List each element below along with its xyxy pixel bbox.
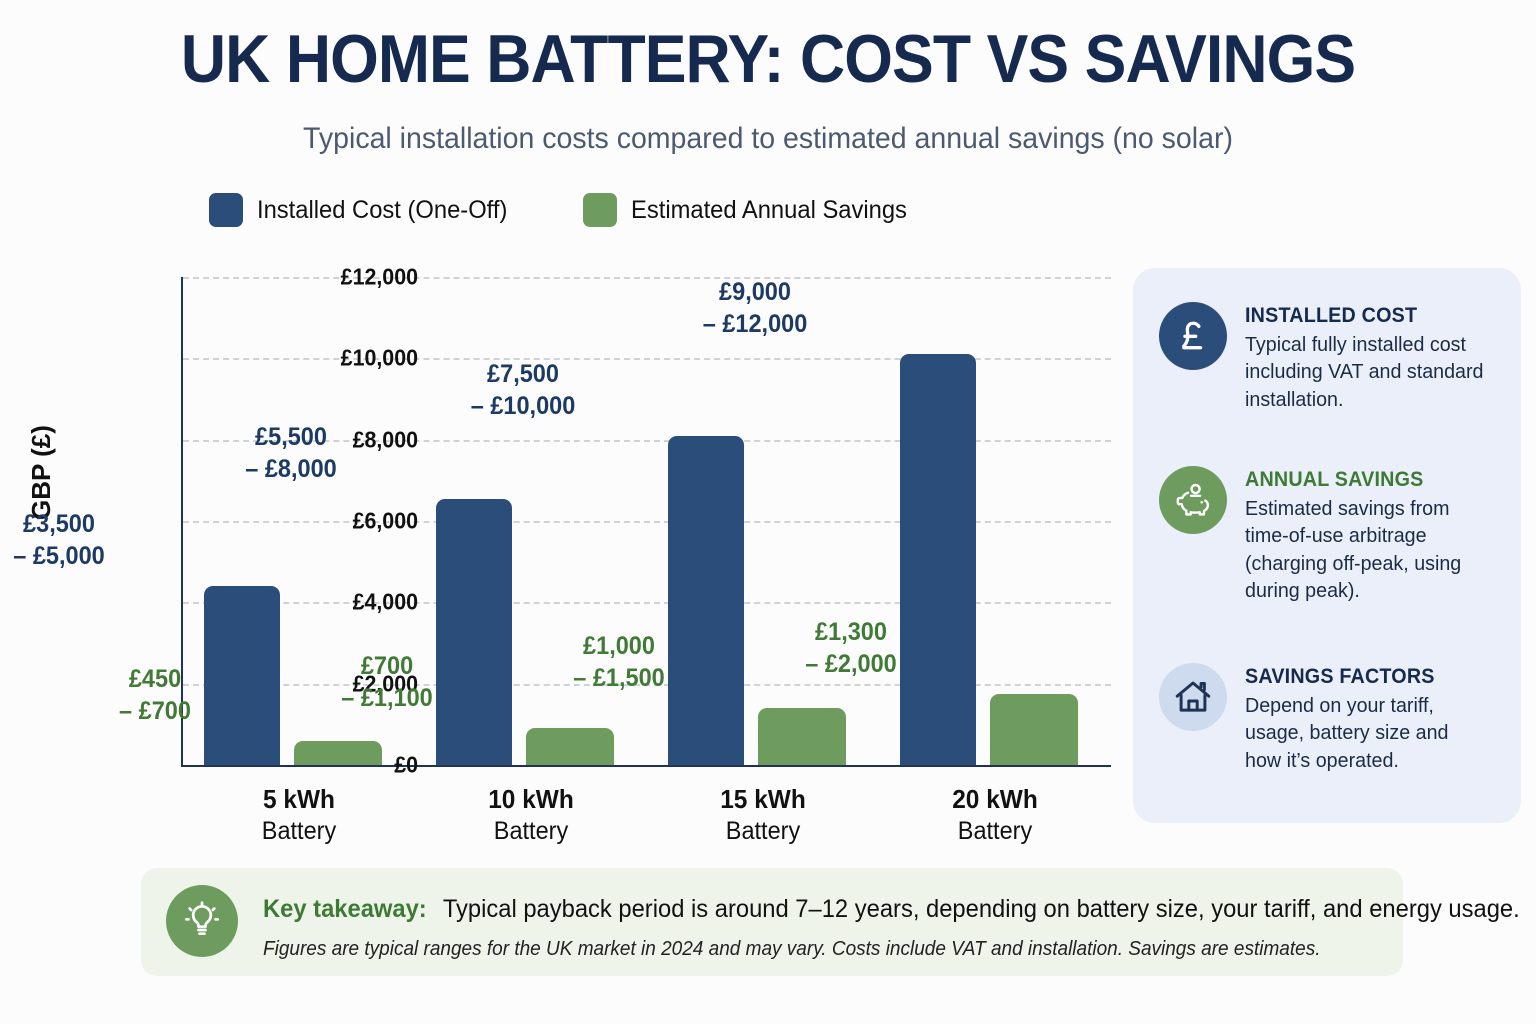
panel-item-heading: INSTALLED COST — [1245, 304, 1482, 328]
x-axis-category-label: 15 kWhBattery — [647, 784, 879, 846]
panel-item-body: ANNUAL SAVINGS Estimated savings from ti… — [1245, 466, 1497, 604]
pound-sign-icon — [1159, 302, 1227, 370]
bar-value-label-savings: £450– £700 — [70, 663, 239, 727]
bar-label-line1: £450 — [129, 665, 181, 693]
bar-label-line2: – £12,000 — [703, 310, 808, 338]
panel-item-text: Depend on your tariff, usage, battery si… — [1245, 692, 1487, 774]
panel-item-body: INSTALLED COST Typical fully installed c… — [1245, 302, 1497, 413]
bar-label-line2: – £8,000 — [245, 455, 336, 483]
bar-label-line2: – £1,500 — [573, 664, 664, 692]
bar-installed-cost[interactable] — [668, 436, 744, 765]
bar-label-line1: £7,500 — [487, 360, 559, 388]
bar-label-line2: – £2,000 — [805, 650, 896, 678]
x-axis-category-size: 15 kWh — [654, 784, 872, 815]
key-takeaway-banner: Key takeaway: Typical payback period is … — [141, 868, 1403, 976]
bar-label-line2: – £10,000 — [471, 392, 576, 420]
page-title: UK HOME BATTERY: COST VS SAVINGS — [61, 24, 1474, 95]
x-axis-category-unit: Battery — [886, 817, 1104, 846]
bar-label-line1: £5,500 — [255, 423, 327, 451]
x-axis-category-unit: Battery — [190, 817, 408, 846]
y-axis-title: GBP (£) — [26, 425, 57, 520]
bar-value-label-cost: £3,500– £5,000 — [0, 508, 144, 572]
panel-item-annual-savings[interactable]: ANNUAL SAVINGS Estimated savings from ti… — [1159, 466, 1497, 604]
bar-label-line1: £9,000 — [719, 278, 791, 306]
bar-label-line1: £1,000 — [583, 632, 655, 660]
bar-label-line1: £700 — [361, 652, 413, 680]
infographic-root: UK HOME BATTERY: COST VS SAVINGS Typical… — [0, 0, 1536, 1024]
x-axis-category-label: 10 kWhBattery — [415, 784, 647, 846]
bar-label-line1: £1,300 — [815, 618, 887, 646]
key-takeaway-label: Key takeaway: — [263, 895, 427, 923]
bar-annual-savings[interactable] — [526, 728, 614, 765]
legend-item-annual-savings[interactable]: Estimated Annual Savings — [583, 193, 921, 227]
bar-annual-savings[interactable] — [990, 694, 1078, 765]
y-axis-tick-label: £4,000 — [269, 589, 418, 616]
bar-label-line2: – £5,000 — [13, 542, 104, 570]
x-axis-category-size: 5 kWh — [190, 784, 408, 815]
bar-annual-savings[interactable] — [758, 708, 846, 765]
x-axis-category-label: 5 kWhBattery — [183, 784, 415, 846]
panel-item-savings-factors[interactable]: SAVINGS FACTORS Depend on your tariff, u… — [1159, 663, 1497, 774]
panel-item-heading: SAVINGS FACTORS — [1245, 665, 1482, 689]
panel-item-text: Typical fully installed cost including V… — [1245, 331, 1487, 413]
chart-legend: Installed Cost (One-Off) Estimated Annua… — [0, 193, 1130, 227]
x-axis-category-label: 20 kWhBattery — [879, 784, 1111, 846]
panel-item-heading: ANNUAL SAVINGS — [1245, 468, 1482, 492]
info-panel: INSTALLED COST Typical fully installed c… — [1133, 268, 1521, 823]
bar-label-line2: – £700 — [119, 697, 191, 725]
panel-item-text: Estimated savings from time-of-use arbit… — [1245, 495, 1487, 604]
legend-label: Installed Cost (One-Off) — [257, 196, 507, 225]
y-axis-tick-label: £6,000 — [269, 508, 418, 535]
panel-item-installed-cost[interactable]: INSTALLED COST Typical fully installed c… — [1159, 302, 1497, 413]
lightbulb-icon — [166, 885, 238, 957]
y-axis-tick-label: £0 — [269, 752, 418, 779]
legend-swatch-icon — [209, 193, 243, 227]
bar-installed-cost[interactable] — [900, 354, 976, 765]
legend-label: Estimated Annual Savings — [631, 196, 907, 225]
bar-value-label-cost: £7,500– £10,000 — [438, 358, 607, 422]
bar-label-line1: £3,500 — [23, 510, 95, 538]
y-axis-tick-label: £12,000 — [269, 264, 418, 291]
bar-value-label-savings: £1,000– £1,500 — [534, 630, 703, 694]
house-icon — [1159, 663, 1227, 731]
x-axis-category-unit: Battery — [422, 817, 640, 846]
bar-value-label-cost: £9,000– £12,000 — [670, 276, 839, 340]
key-takeaway-line: Key takeaway: Typical payback period is … — [263, 895, 1520, 924]
x-axis-category-unit: Battery — [654, 817, 872, 846]
y-axis-tick-label: £10,000 — [269, 345, 418, 372]
page-subtitle: Typical installation costs compared to e… — [38, 122, 1497, 156]
x-axis-category-size: 20 kWh — [886, 784, 1104, 815]
bar-value-label-savings: £700– £1,100 — [302, 650, 471, 714]
x-axis-category-size: 10 kWh — [422, 784, 640, 815]
bar-value-label-savings: £1,300– £2,000 — [766, 616, 935, 680]
bar-value-label-cost: £5,500– £8,000 — [206, 421, 375, 485]
piggy-bank-icon — [1159, 466, 1227, 534]
legend-item-installed-cost[interactable]: Installed Cost (One-Off) — [209, 193, 521, 227]
bar-installed-cost[interactable] — [436, 499, 512, 765]
panel-item-body: SAVINGS FACTORS Depend on your tariff, u… — [1245, 663, 1497, 774]
key-takeaway-body: Typical payback period is around 7–12 ye… — [443, 895, 1520, 923]
legend-swatch-icon — [583, 193, 617, 227]
key-takeaway-footnote: Figures are typical ranges for the UK ma… — [263, 938, 1320, 961]
bar-label-line2: – £1,100 — [341, 684, 432, 712]
